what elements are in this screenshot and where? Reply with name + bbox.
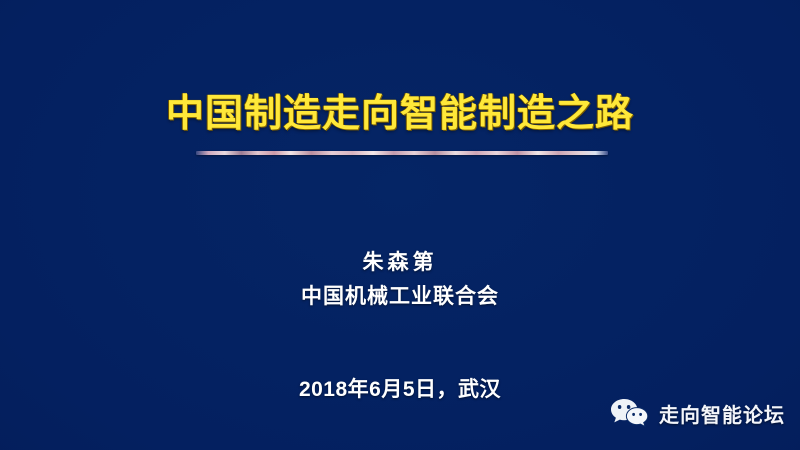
wechat-icon [610, 397, 650, 429]
wechat-badge-label: 走向智能论坛 [659, 399, 785, 428]
author-organization: 中国机械工业联合会 [0, 284, 800, 310]
presentation-slide: 中国制造走向智能制造之路 朱森第 中国机械工业联合会 2018年6月5日，武汉 … [0, 0, 800, 450]
title-block: 中国制造走向智能制造之路 [0, 92, 800, 135]
wechat-badge: 走向智能论坛 [610, 397, 785, 429]
slide-title: 中国制造走向智能制造之路 [0, 92, 800, 135]
title-divider [196, 151, 608, 155]
author-name: 朱森第 [0, 249, 800, 275]
author-block: 朱森第 中国机械工业联合会 [0, 249, 800, 311]
